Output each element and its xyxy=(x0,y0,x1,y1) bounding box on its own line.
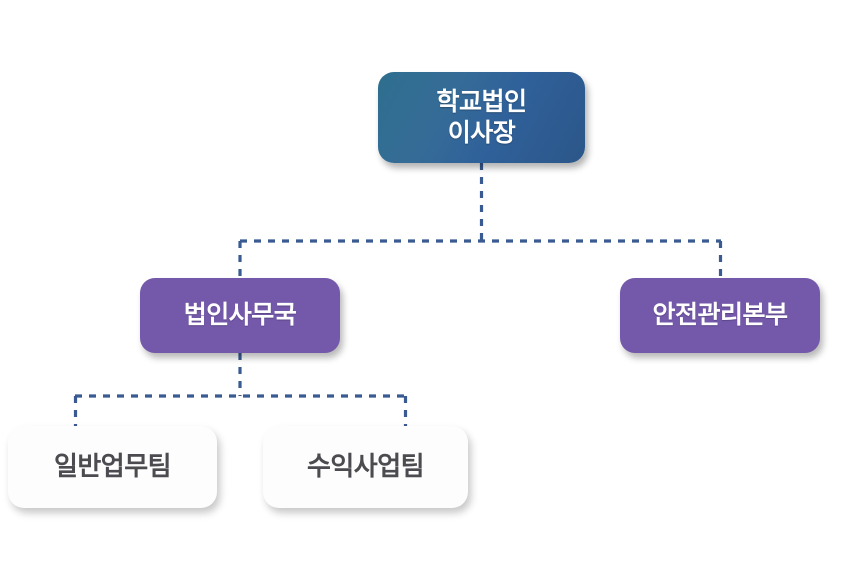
node-root-chairman-label: 학교법인 이사장 xyxy=(436,87,526,148)
node-safety-management-hq-label: 안전관리본부 xyxy=(652,300,787,331)
node-profit-business-team[interactable]: 수익사업팀 xyxy=(263,426,468,508)
node-root-chairman[interactable]: 학교법인 이사장 xyxy=(378,72,585,163)
node-profit-business-team-label: 수익사업팀 xyxy=(307,451,424,483)
node-corporate-office-label: 법인사무국 xyxy=(184,300,297,331)
node-safety-management-hq[interactable]: 안전관리본부 xyxy=(620,278,820,353)
node-corporate-office[interactable]: 법인사무국 xyxy=(140,278,340,353)
org-chart: 학교법인 이사장 법인사무국 안전관리본부 일반업무팀 수익사업팀 xyxy=(0,0,843,577)
node-general-affairs-team-label: 일반업무팀 xyxy=(54,451,171,483)
node-general-affairs-team[interactable]: 일반업무팀 xyxy=(8,426,217,508)
